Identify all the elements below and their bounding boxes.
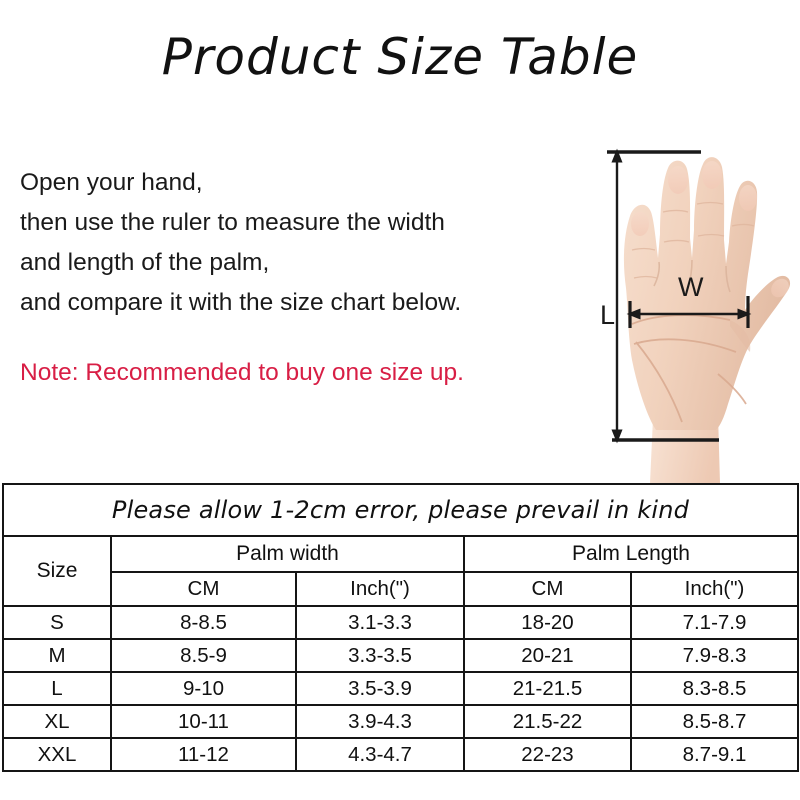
cell-length-inch: 8.3-8.5 (631, 672, 798, 705)
cell-width-cm: 9-10 (111, 672, 296, 705)
table-row: XL 10-11 3.9-4.3 21.5-22 8.5-8.7 (3, 705, 798, 738)
instruction-line-2: then use the ruler to measure the width (20, 203, 580, 243)
nail-ring-icon (668, 166, 688, 194)
cell-size: M (3, 639, 111, 672)
cell-width-cm: 8.5-9 (111, 639, 296, 672)
cell-length-inch: 7.9-8.3 (631, 639, 798, 672)
cell-length-cm: 21-21.5 (464, 672, 631, 705)
subheader-width-cm: CM (111, 572, 296, 606)
size-chart-page: Product Size Table Open your hand, then … (0, 0, 800, 800)
cell-size: XL (3, 705, 111, 738)
instruction-line-1: Open your hand, (20, 163, 580, 203)
length-label: L (600, 302, 615, 329)
cell-size: XXL (3, 738, 111, 771)
nail-pinky-icon (631, 212, 649, 236)
header-palm-width: Palm width (111, 536, 464, 572)
nail-middle-icon (702, 161, 722, 189)
cell-width-inch: 3.3-3.5 (296, 639, 464, 672)
cell-length-inch: 8.5-8.7 (631, 705, 798, 738)
width-label: W (678, 274, 703, 301)
cell-width-inch: 3.9-4.3 (296, 705, 464, 738)
instruction-line-4: and compare it with the size chart below… (20, 283, 580, 323)
table-banner-row: Please allow 1-2cm error, please prevail… (3, 484, 798, 536)
cell-width-inch: 3.1-3.3 (296, 606, 464, 639)
instruction-line-3: and length of the palm, (20, 243, 580, 283)
cell-length-inch: 8.7-9.1 (631, 738, 798, 771)
instructions-block: Open your hand, then use the ruler to me… (20, 163, 580, 323)
subheader-length-cm: CM (464, 572, 631, 606)
note-text: Note: Recommended to buy one size up. (20, 357, 464, 389)
cell-size: L (3, 672, 111, 705)
table-sub-header-row: CM Inch(") CM Inch(") (3, 572, 798, 606)
cell-length-cm: 21.5-22 (464, 705, 631, 738)
hand-illustration (598, 138, 798, 483)
palm-shape (624, 157, 790, 430)
page-title: Product Size Table (0, 28, 800, 86)
table-banner: Please allow 1-2cm error, please prevail… (3, 484, 798, 536)
cell-width-cm: 10-11 (111, 705, 296, 738)
cell-width-cm: 11-12 (111, 738, 296, 771)
header-palm-length: Palm Length (464, 536, 798, 572)
cell-width-cm: 8-8.5 (111, 606, 296, 639)
cell-width-inch: 4.3-4.7 (296, 738, 464, 771)
table-group-header-row: Size Palm width Palm Length (3, 536, 798, 572)
hand-measurement-diagram: L W (598, 138, 798, 483)
header-size: Size (3, 536, 111, 606)
table-row: M 8.5-9 3.3-3.5 20-21 7.9-8.3 (3, 639, 798, 672)
table-row: XXL 11-12 4.3-4.7 22-23 8.7-9.1 (3, 738, 798, 771)
table-row: L 9-10 3.5-3.9 21-21.5 8.3-8.5 (3, 672, 798, 705)
cell-length-cm: 18-20 (464, 606, 631, 639)
cell-size: S (3, 606, 111, 639)
subheader-width-inch: Inch(") (296, 572, 464, 606)
cell-length-cm: 20-21 (464, 639, 631, 672)
cell-length-cm: 22-23 (464, 738, 631, 771)
nail-index-icon (739, 185, 757, 211)
table-row: S 8-8.5 3.1-3.3 18-20 7.1-7.9 (3, 606, 798, 639)
subheader-length-inch: Inch(") (631, 572, 798, 606)
size-table: Please allow 1-2cm error, please prevail… (2, 483, 799, 772)
cell-length-inch: 7.1-7.9 (631, 606, 798, 639)
cell-width-inch: 3.5-3.9 (296, 672, 464, 705)
